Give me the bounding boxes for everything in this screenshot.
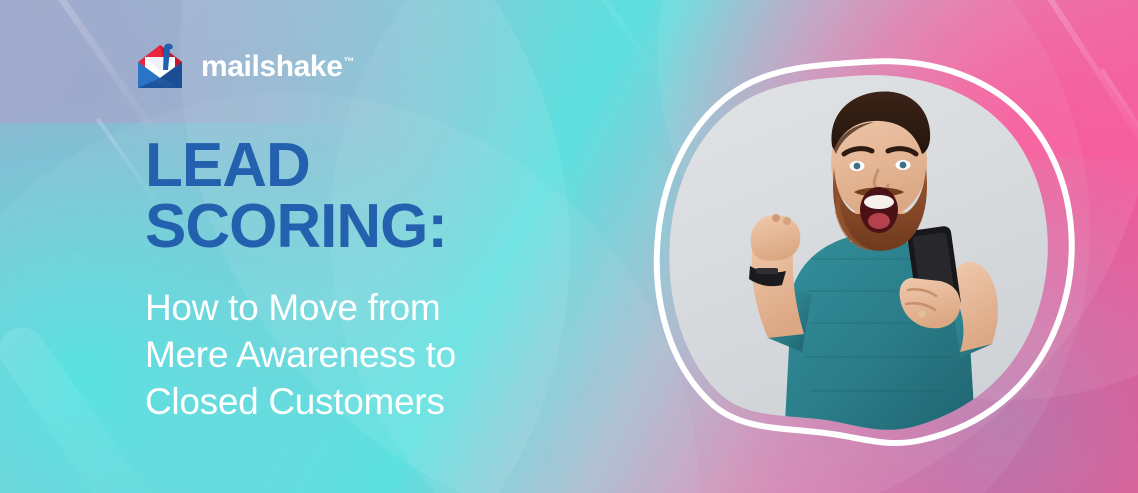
headline-line-1: LEAD bbox=[145, 136, 665, 197]
mailshake-envelope-logo-icon bbox=[133, 40, 187, 94]
photo-content bbox=[616, 22, 1086, 493]
subheadline-line-3: Closed Customers bbox=[145, 378, 665, 425]
trademark-symbol: ™ bbox=[344, 56, 355, 68]
marketing-banner: mailshake™ LEAD SCORING: How to Move fro… bbox=[0, 0, 1138, 493]
brand-logo[interactable]: mailshake™ bbox=[133, 40, 354, 94]
page-title: LEAD SCORING: bbox=[145, 136, 665, 258]
subheadline-line-1: How to Move from bbox=[145, 284, 665, 331]
subheadline-line-2: Mere Awareness to bbox=[145, 331, 665, 378]
banner-copy: LEAD SCORING: How to Move from Mere Awar… bbox=[145, 136, 665, 426]
page-subtitle: How to Move from Mere Awareness to Close… bbox=[145, 284, 665, 426]
headline-line-2: SCORING: bbox=[145, 197, 665, 258]
brand-wordmark: mailshake™ bbox=[201, 52, 354, 82]
hero-image bbox=[616, 22, 1086, 493]
wordmark-text: mailshake bbox=[201, 50, 343, 83]
